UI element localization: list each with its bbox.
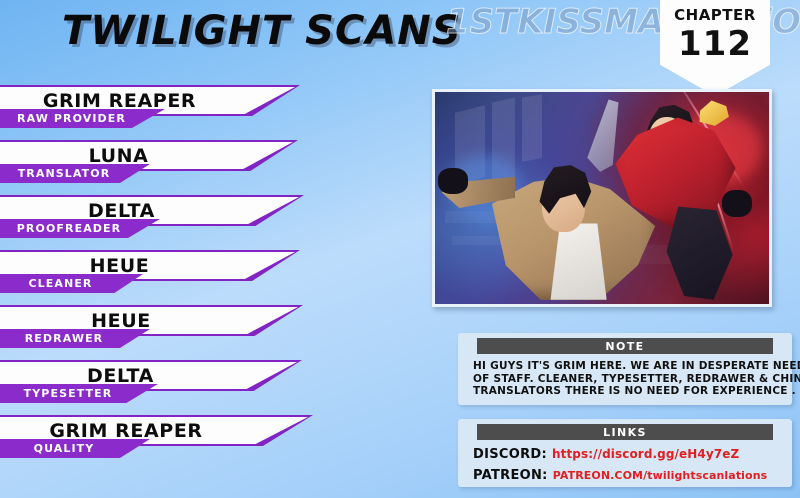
note-body: HI GUYS IT'S GRIM HERE. WE ARE IN DESPER… [465, 354, 785, 398]
discord-link[interactable]: https://discord.gg/eH4y7eZ [552, 447, 739, 461]
credit-role-banner: QUALITY [0, 439, 150, 458]
credit-row: DELTA PROOFREADER [0, 195, 330, 250]
credit-role-banner: RAW PROVIDER [0, 109, 165, 128]
patreon-label: PATREON: [473, 468, 548, 483]
links-panel: LINKS DISCORD: https://discord.gg/eH4y7e… [458, 419, 792, 487]
credit-role-banner: TYPESETTER [0, 384, 158, 403]
credit-role: CLEANER [29, 277, 93, 290]
credit-name: LUNA [89, 145, 149, 167]
note-line: HI GUYS IT'S GRIM HERE. WE ARE IN DESPER… [473, 360, 777, 373]
chapter-artwork [432, 89, 772, 307]
discord-label: DISCORD: [473, 447, 547, 462]
art-character-back-glove [722, 190, 752, 218]
credit-row: GRIM REAPER QUALITY [0, 415, 330, 470]
links-heading: LINKS [603, 426, 647, 439]
link-row-patreon: PATREON: PATREON.COM/twilightscanlations [473, 468, 777, 483]
note-line: TRANSLATORS THERE IS NO NEED FOR EXPERIE… [473, 385, 777, 398]
credit-role: QUALITY [34, 442, 95, 455]
credit-name: DELTA [87, 365, 154, 387]
credits-list: GRIM REAPER RAW PROVIDER LUNA TRANSLATOR… [0, 85, 330, 470]
credits-page: TWILIGHT SCANS 1STKISSMANGA.iO CHAPTER 1… [0, 0, 800, 498]
credit-name: GRIM REAPER [43, 90, 196, 112]
links-header: LINKS [477, 424, 773, 440]
credit-role-banner: TRANSLATOR [0, 164, 150, 183]
credit-name: HEUE [90, 255, 150, 277]
credit-name: DELTA [88, 200, 155, 222]
credit-name: GRIM REAPER [49, 420, 202, 442]
credit-row: LUNA TRANSLATOR [0, 140, 330, 195]
art-building [522, 94, 542, 161]
chapter-number: 112 [678, 27, 752, 61]
credit-role-banner: REDRAWER [0, 329, 150, 348]
chapter-badge: CHAPTER 112 [660, 0, 770, 96]
credit-row: HEUE REDRAWER [0, 305, 330, 360]
links-body: DISCORD: https://discord.gg/eH4y7eZ PATR… [465, 440, 785, 483]
note-line: OF STAFF. CLEANER, TYPESETTER, REDRAWER … [473, 373, 777, 386]
credit-role: RAW PROVIDER [17, 112, 126, 125]
credit-role-banner: CLEANER [0, 274, 143, 293]
note-panel: NOTE HI GUYS IT'S GRIM HERE. WE ARE IN D… [458, 333, 792, 405]
credit-row: DELTA TYPESETTER [0, 360, 330, 415]
art-character-front-glove [438, 168, 468, 193]
credit-role-banner: PROOFREADER [0, 219, 160, 238]
note-heading: NOTE [605, 340, 644, 353]
credit-row: GRIM REAPER RAW PROVIDER [0, 85, 330, 140]
artwork-canvas [435, 92, 769, 304]
patreon-link[interactable]: PATREON.COM/twilightscanlations [553, 469, 768, 482]
credit-name: HEUE [91, 310, 151, 332]
credit-role: REDRAWER [25, 332, 104, 345]
link-row-discord: DISCORD: https://discord.gg/eH4y7eZ [473, 447, 777, 462]
chapter-label: CHAPTER [674, 6, 756, 24]
page-title: TWILIGHT SCANS [62, 8, 462, 54]
credit-role: TRANSLATOR [18, 167, 111, 180]
credit-row: HEUE CLEANER [0, 250, 330, 305]
credit-role: PROOFREADER [17, 222, 121, 235]
credit-role: TYPESETTER [24, 387, 113, 400]
note-header: NOTE [477, 338, 773, 354]
